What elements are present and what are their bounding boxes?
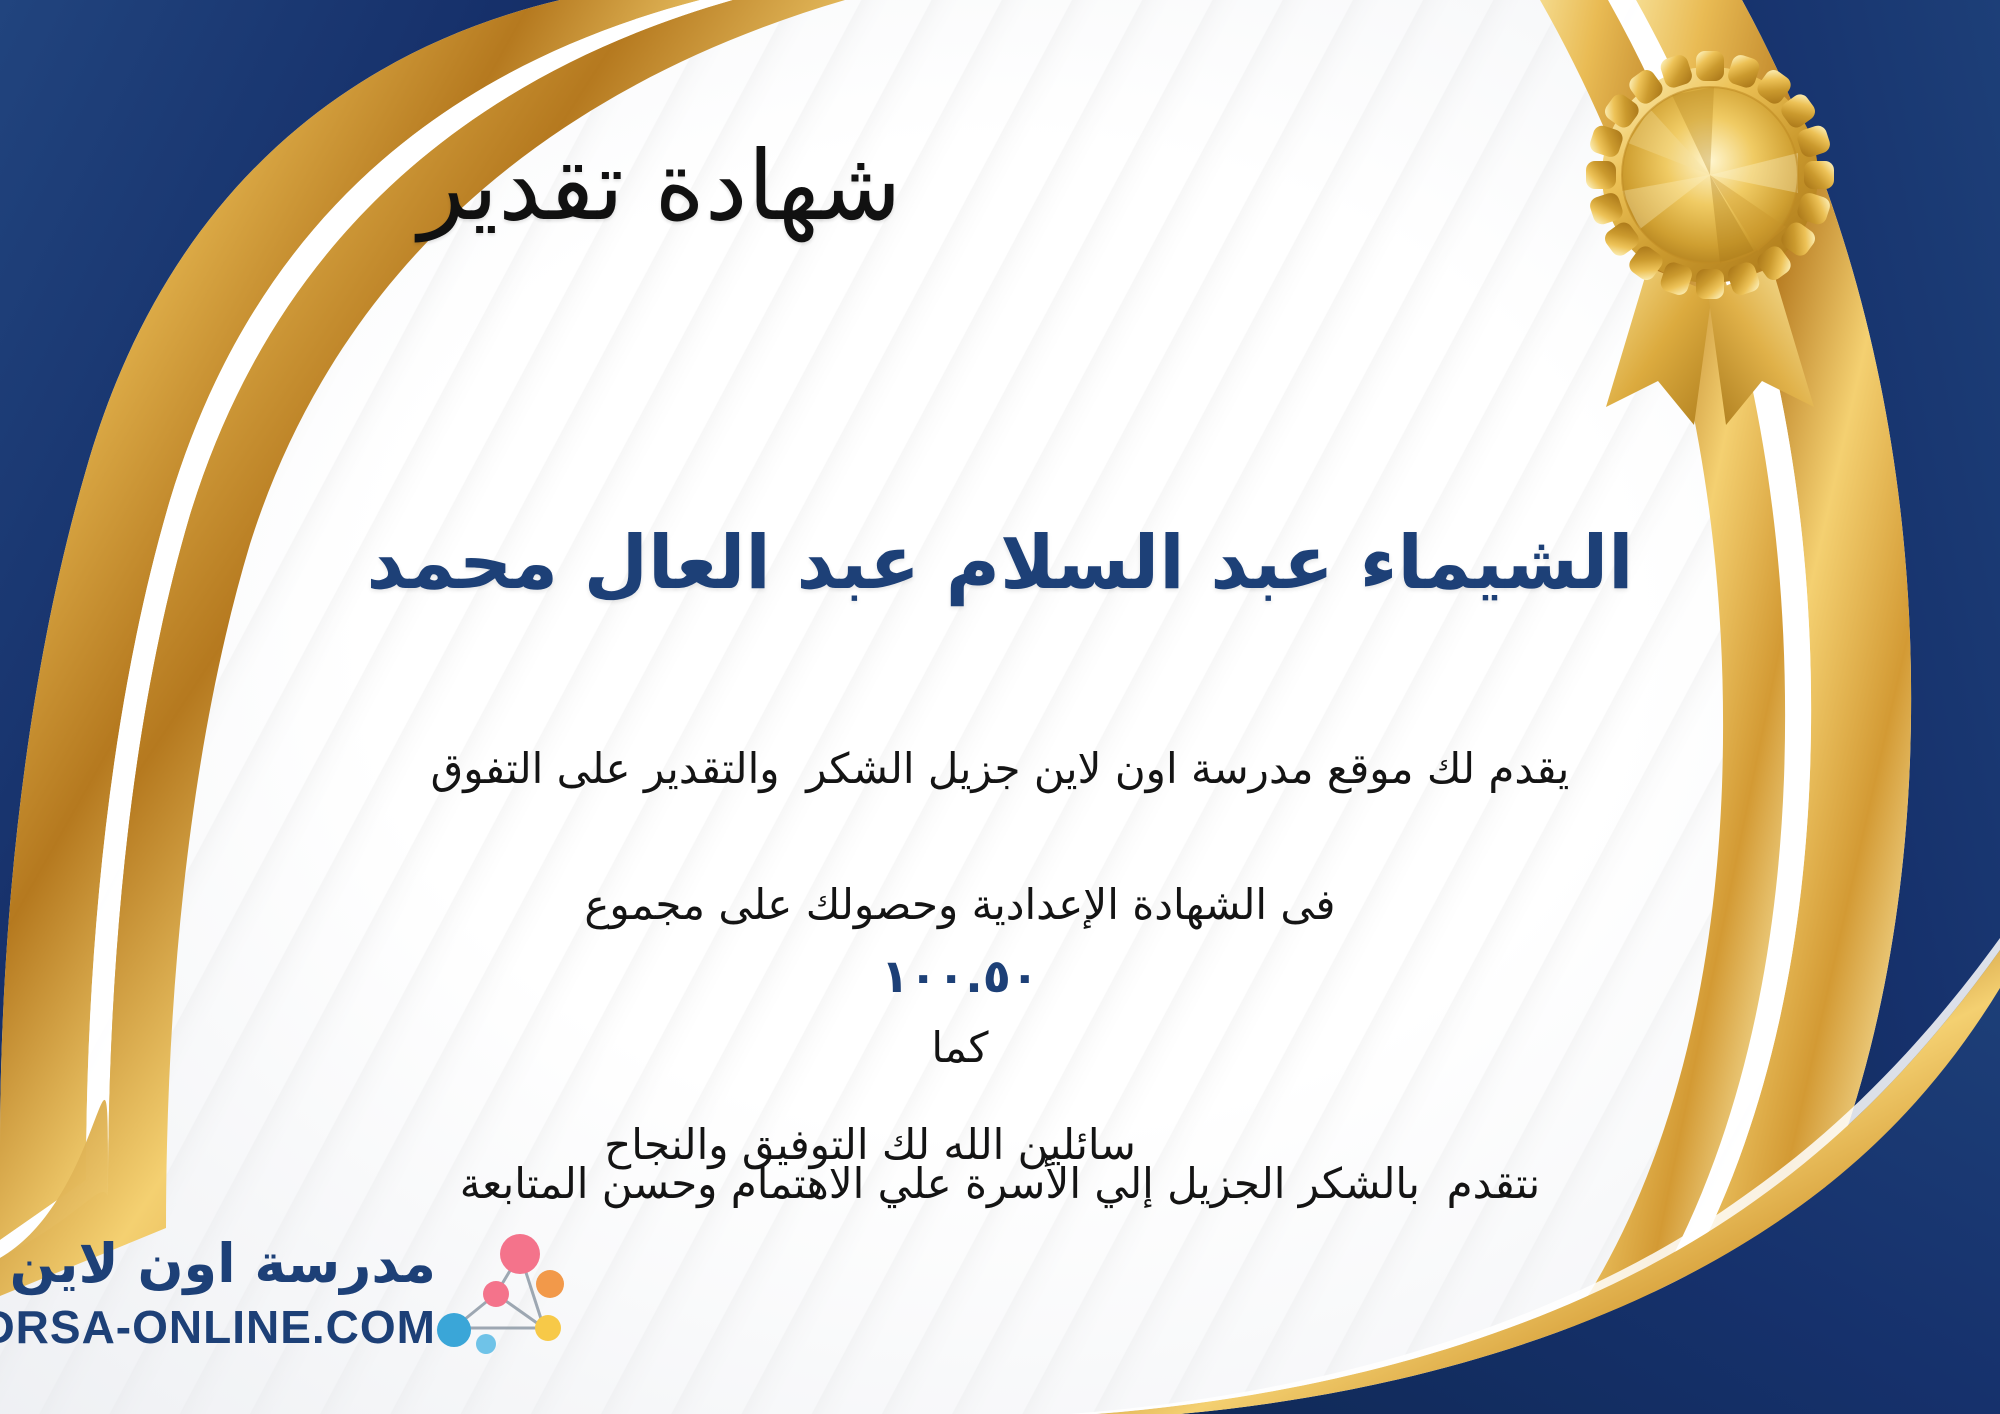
network-nodes-icon <box>424 1232 574 1372</box>
recipient-name: الشيماء عبد السلام عبد العال محمد <box>0 520 2000 606</box>
body-line-2: فى الشهادة الإعدادية وحصولك على مجموع ١٠… <box>60 803 1940 1150</box>
logo-url: MADRSA-ONLINE.COM <box>0 1300 436 1354</box>
body-line-1: يقدم لك موقع مدرسة اون لاين جزيل الشكر و… <box>60 735 1940 803</box>
gold-rosette-medal-icon <box>1586 51 1834 425</box>
certificate-canvas: شهادة تقدير الشيماء عبد السلام عبد العال… <box>0 0 2000 1414</box>
score-value: ١٠٠.٥٠ <box>881 949 1039 1003</box>
certificate-title: شهادة تقدير <box>0 130 1320 242</box>
logo-arabic-name: مدرسة اون لاين <box>10 1232 436 1295</box>
body-line-2-suffix: كما <box>931 1023 988 1072</box>
site-logo[interactable]: مدرسة اون لاين MADRSA-ONLINE.COM <box>26 1228 646 1388</box>
body-line-2-prefix: فى الشهادة الإعدادية وحصولك على مجموع <box>584 880 1335 929</box>
closing-line: سائلين الله لك التوفيق والنجاح <box>60 1120 1680 1169</box>
